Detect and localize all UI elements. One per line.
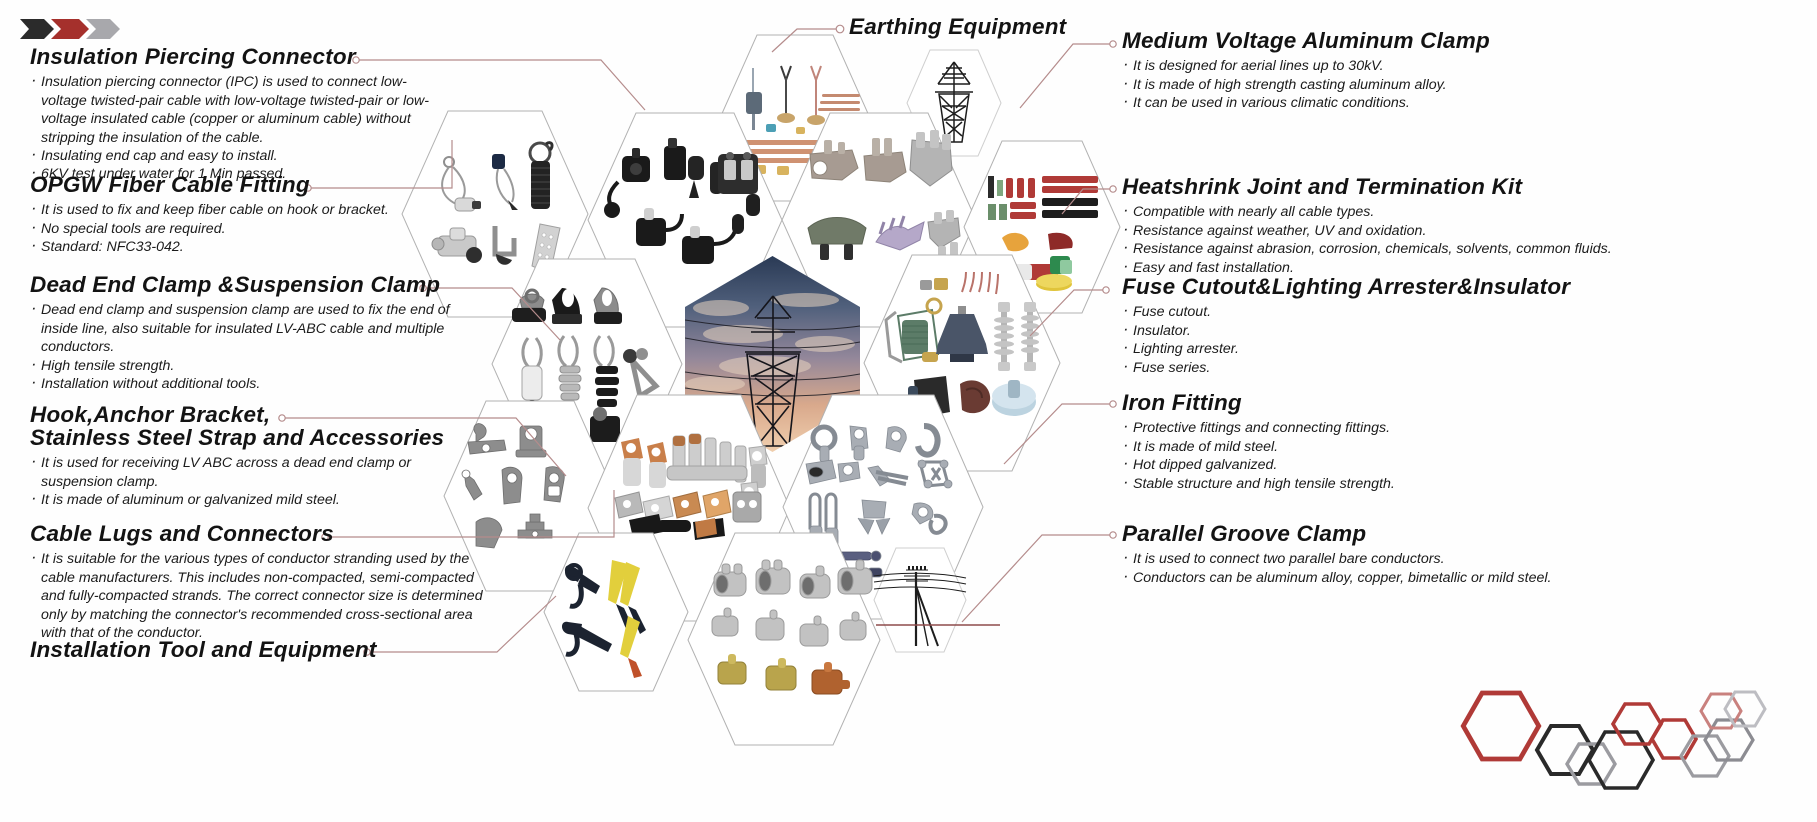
bullets-cable-lugs-and-connectors: It is suitable for the various types of … xyxy=(30,550,500,642)
section-heatshrink-joint-and-termination-kit: Heatshrink Joint and Termination Kit Com… xyxy=(1122,174,1632,277)
bullet-item: Lighting arrester. xyxy=(1122,340,1662,358)
bullet-item: Fuse series. xyxy=(1122,359,1662,377)
bullet-item: Conductors can be aluminum alloy, copper… xyxy=(1122,569,1622,587)
bullet-item: Fuse cutout. xyxy=(1122,303,1662,321)
bullet-item: Resistance against abrasion, corrosion, … xyxy=(1122,240,1632,258)
title-installation-tool-and-equipment: Installation Tool and Equipment xyxy=(30,637,460,662)
bullet-item: It is used to connect two parallel bare … xyxy=(1122,550,1622,568)
title-dead-end-clamp-suspension-clamp: Dead End Clamp &Suspension Clamp xyxy=(30,272,460,297)
title-fuse-cutout-lighting-arrester-insulator: Fuse Cutout&Lighting Arrester&Insulator xyxy=(1122,274,1662,299)
decorative-hexagon-cluster xyxy=(1455,688,1771,812)
bullet-item: It is made of aluminum or galvanized mil… xyxy=(30,491,460,509)
bullet-item: Protective fittings and connecting fitti… xyxy=(1122,419,1622,437)
bullet-item: No special tools are required. xyxy=(30,220,450,238)
section-parallel-groove-clamp: Parallel Groove Clamp It is used to conn… xyxy=(1122,521,1622,587)
bullet-item: Standard: NFC33-042. xyxy=(30,238,450,256)
section-fuse-cutout-lighting-arrester-insulator: Fuse Cutout&Lighting Arrester&Insulator … xyxy=(1122,274,1662,377)
bullet-item: It is made of high strength casting alum… xyxy=(1122,76,1622,94)
bullet-item: Compatible with nearly all cable types. xyxy=(1122,203,1632,221)
section-opgw-fiber-cable-fitting: OPGW Fiber Cable Fitting It is used to f… xyxy=(30,172,450,257)
bullet-item: Resistance against weather, UV and oxida… xyxy=(1122,222,1632,240)
title-medium-voltage-aluminum-clamp: Medium Voltage Aluminum Clamp xyxy=(1122,28,1622,53)
hex-parallel-groove-clamps[interactable] xyxy=(686,530,882,748)
bullet-item: It is suitable for the various types of … xyxy=(30,550,500,642)
title-insulation-piercing-connector: Insulation Piercing Connector xyxy=(30,44,450,69)
bullet-item: Installation without additional tools. xyxy=(30,375,460,393)
bullet-item: It is made of mild steel. xyxy=(1122,438,1622,456)
section-medium-voltage-aluminum-clamp: Medium Voltage Aluminum Clamp It is desi… xyxy=(1122,28,1622,113)
section-dead-end-clamp-suspension-clamp: Dead End Clamp &Suspension Clamp Dead en… xyxy=(30,272,460,393)
bullets-heatshrink-joint-and-termination-kit: Compatible with nearly all cable types. … xyxy=(1122,203,1632,277)
title-parallel-groove-clamp: Parallel Groove Clamp xyxy=(1122,521,1622,546)
bullet-item: It is used for receiving LV ABC across a… xyxy=(30,454,460,491)
section-iron-fitting: Iron Fitting Protective fittings and con… xyxy=(1122,390,1622,493)
bullets-fuse-cutout-lighting-arrester-insulator: Fuse cutout. Insulator. Lighting arreste… xyxy=(1122,303,1662,377)
bullet-item: Insulation piercing connector (IPC) is u… xyxy=(30,73,450,147)
section-cable-lugs-and-connectors: Cable Lugs and Connectors It is suitable… xyxy=(30,521,500,642)
section-installation-tool-and-equipment: Installation Tool and Equipment xyxy=(30,637,460,662)
title-hook-anchor-bracket-line2: Stainless Steel Strap and Accessories xyxy=(30,425,460,450)
title-heatshrink-joint-and-termination-kit: Heatshrink Joint and Termination Kit xyxy=(1122,174,1632,199)
section-hook-anchor-bracket: Hook,Anchor Bracket, Stainless Steel Str… xyxy=(30,402,460,510)
bullet-item: Insulating end cap and easy to install. xyxy=(30,147,450,165)
bullet-item: Stable structure and high tensile streng… xyxy=(1122,475,1622,493)
hex-pole-line-diagram[interactable] xyxy=(872,546,968,654)
bullets-insulation-piercing-connector: Insulation piercing connector (IPC) is u… xyxy=(30,73,450,184)
bullets-opgw-fiber-cable-fitting: It is used to fix and keep fiber cable o… xyxy=(30,201,450,256)
title-iron-fitting: Iron Fitting xyxy=(1122,390,1622,415)
center-title-earthing-equipment: Earthing Equipment xyxy=(849,14,1169,39)
bullets-iron-fitting: Protective fittings and connecting fitti… xyxy=(1122,419,1622,493)
bullet-item: Hot dipped galvanized. xyxy=(1122,456,1622,474)
section-insulation-piercing-connector: Insulation Piercing Connector Insulation… xyxy=(30,44,450,184)
bullets-medium-voltage-aluminum-clamp: It is designed for aerial lines up to 30… xyxy=(1122,57,1622,112)
product-overview-poster: Earthing Equipment Insulation Piercing C… xyxy=(0,0,1817,822)
bullets-dead-end-clamp-suspension-clamp: Dead end clamp and suspension clamp are … xyxy=(30,301,460,393)
bullet-item: It is designed for aerial lines up to 30… xyxy=(1122,57,1622,75)
title-hook-anchor-bracket-line1: Hook,Anchor Bracket, xyxy=(30,402,460,427)
hex-installation-tools[interactable] xyxy=(542,530,690,694)
bullets-parallel-groove-clamp: It is used to connect two parallel bare … xyxy=(1122,550,1622,587)
bullet-item: It can be used in various climatic condi… xyxy=(1122,94,1622,112)
bullet-item: Dead end clamp and suspension clamp are … xyxy=(30,301,460,356)
title-cable-lugs-and-connectors: Cable Lugs and Connectors xyxy=(30,521,500,546)
title-earthing-equipment: Earthing Equipment xyxy=(849,14,1169,39)
bullet-item: It is used to fix and keep fiber cable o… xyxy=(30,201,450,219)
bullet-item: High tensile strength. xyxy=(30,357,460,375)
bullets-hook-anchor-bracket: It is used for receiving LV ABC across a… xyxy=(30,454,460,509)
title-opgw-fiber-cable-fitting: OPGW Fiber Cable Fitting xyxy=(30,172,450,197)
bullet-item: Insulator. xyxy=(1122,322,1662,340)
